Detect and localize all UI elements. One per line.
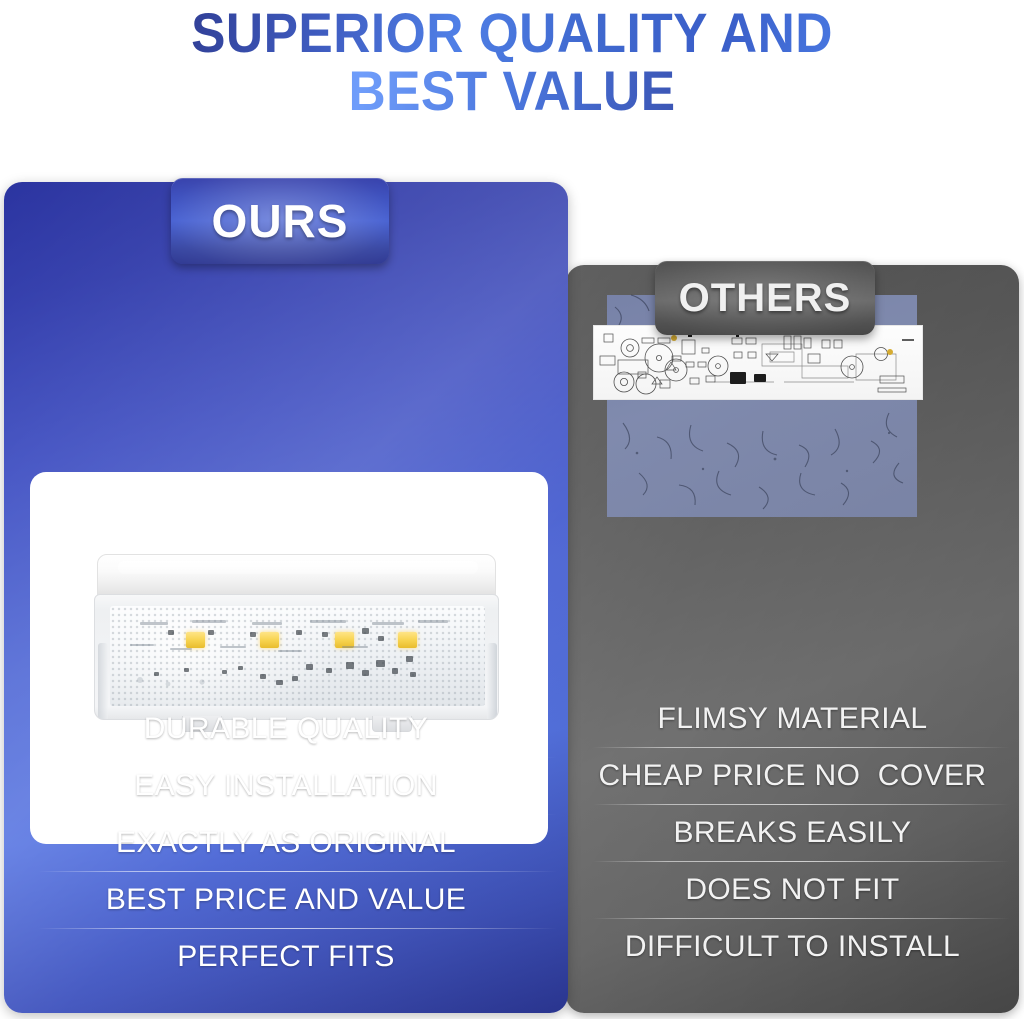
page-title: SUPERIOR QUALITY AND BEST VALUE xyxy=(0,0,1024,140)
ours-feature-list: DURABLE QUALITY EASY INSTALLATION EXACTL… xyxy=(4,700,568,985)
list-item: DIFFICULT TO INSTALL xyxy=(566,918,1019,975)
feature-label: BREAKS EASILY xyxy=(673,816,911,850)
ours-badge: OURS xyxy=(171,178,389,264)
list-item: FLIMSY MATERIAL xyxy=(566,690,1019,747)
feature-label: DURABLE QUALITY xyxy=(144,712,428,746)
headline-line-2: BEST VALUE xyxy=(41,62,983,120)
feature-label: EASY INSTALLATION xyxy=(134,769,438,803)
list-item: DURABLE QUALITY xyxy=(4,700,568,757)
list-item: PERFECT FITS xyxy=(4,928,568,985)
ours-comparison-panel: DURABLE QUALITY EASY INSTALLATION EXACTL… xyxy=(4,182,568,1013)
others-comparison-panel: FLIMSY MATERIAL CHEAP PRICE NO COVER BRE… xyxy=(566,265,1019,1013)
list-item: EXACTLY AS ORIGINAL xyxy=(4,814,568,871)
led-housing-highlight xyxy=(118,561,478,574)
list-item: DOES NOT FIT xyxy=(566,861,1019,918)
led-internal-components xyxy=(110,606,485,706)
ours-badge-label: OURS xyxy=(212,194,349,248)
others-badge-label: OTHERS xyxy=(679,276,852,321)
feature-label: CHEAP PRICE NO COVER xyxy=(599,759,987,793)
list-item: BEST PRICE AND VALUE xyxy=(4,871,568,928)
list-item: CHEAP PRICE NO COVER xyxy=(566,747,1019,804)
feature-label: FLIMSY MATERIAL xyxy=(658,702,928,736)
others-feature-list: FLIMSY MATERIAL CHEAP PRICE NO COVER BRE… xyxy=(566,690,1019,975)
pcb-traces xyxy=(594,326,923,400)
others-badge: OTHERS xyxy=(655,261,875,335)
feature-label: EXACTLY AS ORIGINAL xyxy=(116,826,456,860)
feature-label: PERFECT FITS xyxy=(177,940,395,974)
led-diffuser-lens xyxy=(110,606,485,706)
feature-label: DIFFICULT TO INSTALL xyxy=(625,930,960,964)
headline-line-1: SUPERIOR QUALITY AND xyxy=(41,4,983,62)
pcb-board xyxy=(593,325,923,400)
feature-label: BEST PRICE AND VALUE xyxy=(106,883,466,917)
list-item: BREAKS EASILY xyxy=(566,804,1019,861)
feature-label: DOES NOT FIT xyxy=(685,873,899,907)
list-item: EASY INSTALLATION xyxy=(4,757,568,814)
